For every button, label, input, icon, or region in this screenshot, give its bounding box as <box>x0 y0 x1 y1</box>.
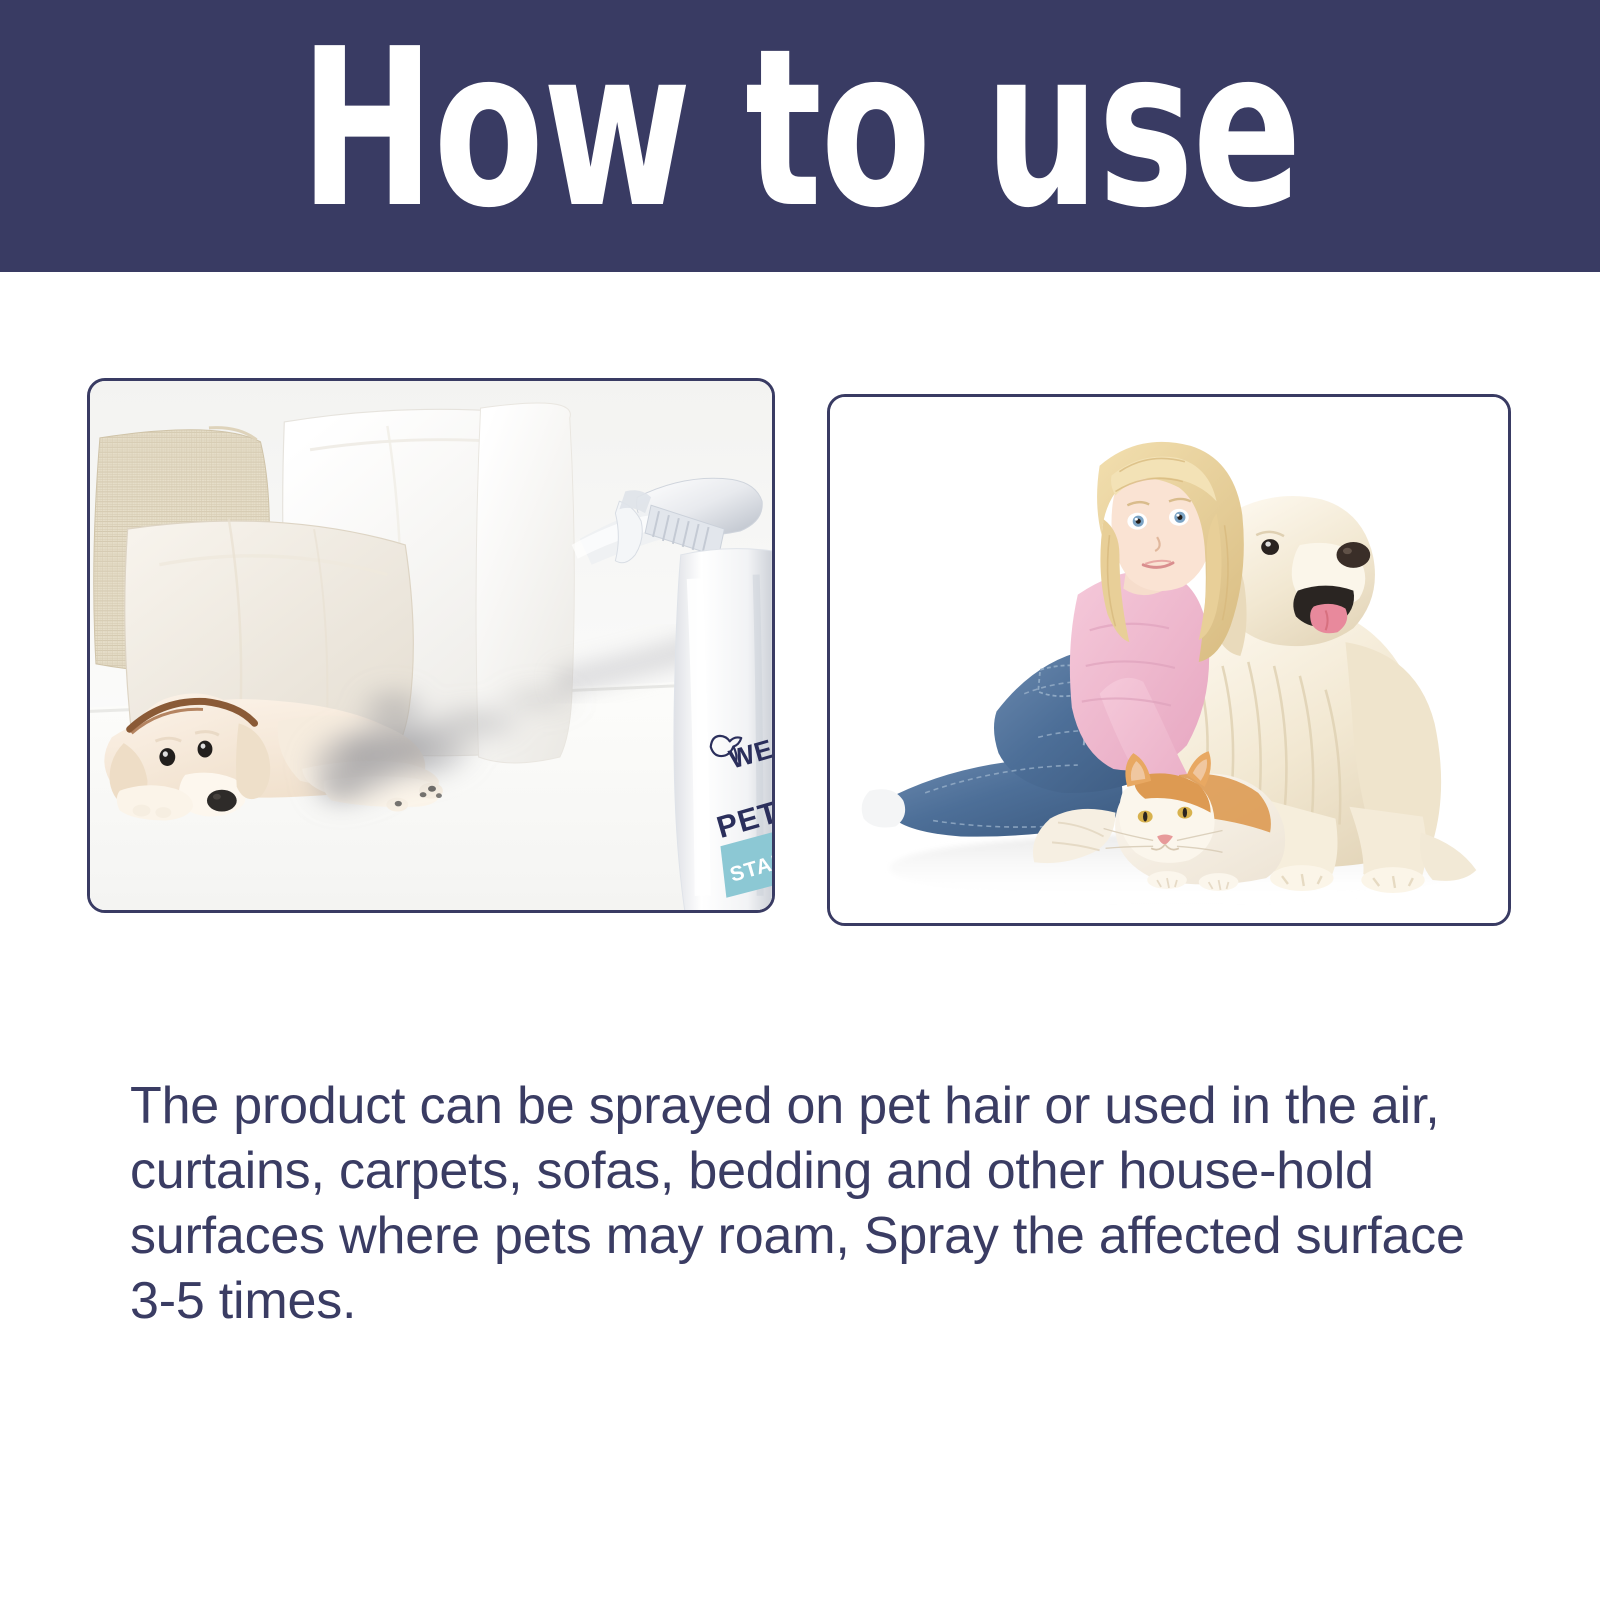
photo-card-girl-with-pets <box>827 394 1511 926</box>
photo-cards-row: WEGBO PET O STAIN <box>0 378 1600 938</box>
photo-girl-with-pets-illustration <box>830 397 1508 923</box>
page-title: How to use <box>300 30 1301 231</box>
photo-card-spray-on-sofa: WEGBO PET O STAIN <box>87 378 775 913</box>
header-banner: How to use <box>0 0 1600 272</box>
usage-description: The product can be sprayed on pet hair o… <box>130 1074 1502 1334</box>
photo-spray-on-sofa-illustration: WEGBO PET O STAIN <box>90 381 772 910</box>
